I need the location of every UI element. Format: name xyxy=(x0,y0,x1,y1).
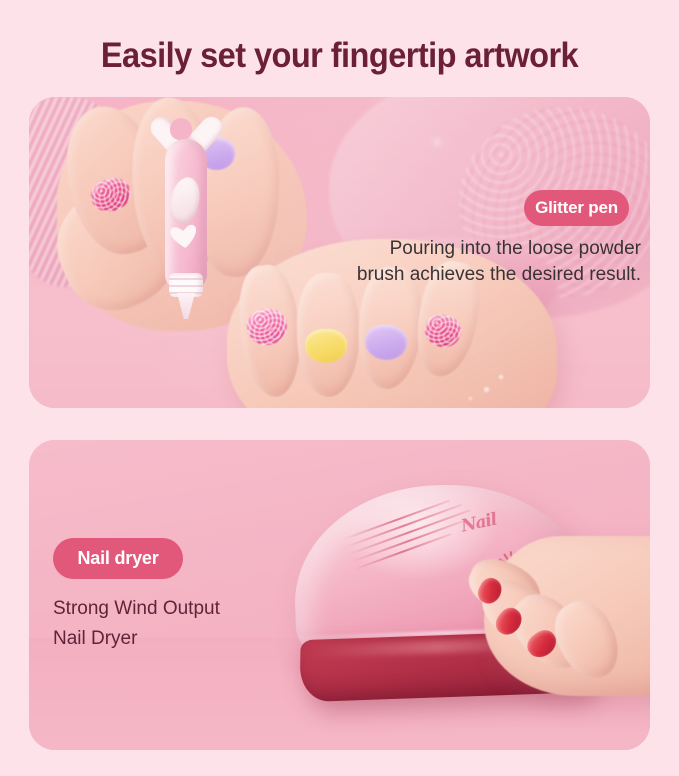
caption-glitter-line-2: brush achieves the desired result. xyxy=(357,264,641,285)
page-title: Easily set your fingertip artwork xyxy=(24,36,655,76)
caption-glitter-line-1: Pouring into the loose powder xyxy=(390,238,641,259)
glitter-fleck xyxy=(484,387,489,392)
glitter-pen-device xyxy=(157,105,215,315)
badge-nail-dryer: Nail dryer xyxy=(53,538,183,579)
glitter-fleck xyxy=(499,375,503,379)
caption-nail-dryer: Strong Wind Output Nail Dryer xyxy=(53,594,220,654)
caption-dryer-line-1: Strong Wind Output xyxy=(53,598,220,619)
caption-dryer-line-2: Nail Dryer xyxy=(53,628,137,649)
glitter-fleck xyxy=(469,397,472,400)
caption-glitter-pen: Pouring into the loose powder brush achi… xyxy=(341,236,641,288)
badge-glitter-pen: Glitter pen xyxy=(524,190,629,226)
nail-yellow xyxy=(305,329,347,363)
